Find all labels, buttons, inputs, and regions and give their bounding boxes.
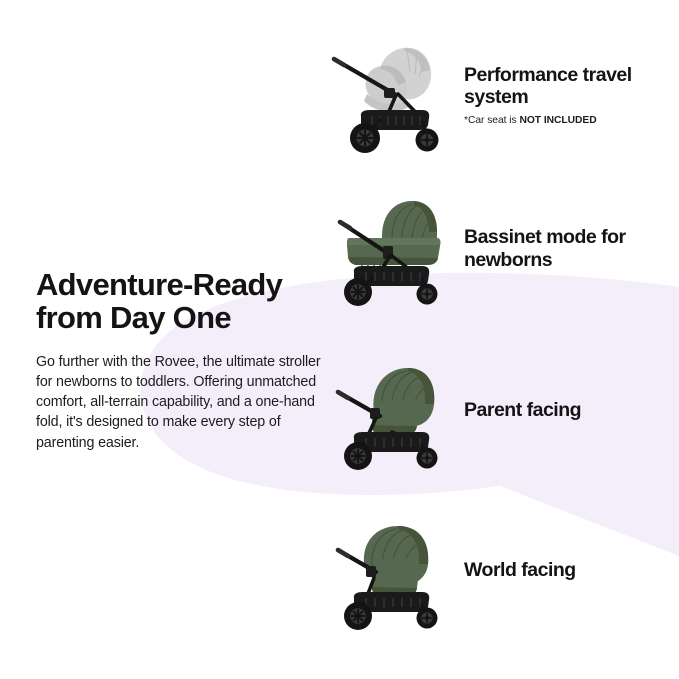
feature-row-performance-travel-system: Performance travel system *Car seat is N… bbox=[318, 28, 679, 159]
feature-text-bassinet-mode: Bassinet mode for newborns bbox=[464, 226, 679, 270]
page-title: Adventure-Ready from Day One bbox=[36, 268, 326, 335]
infographic-canvas: Adventure-Ready from Day One Go further … bbox=[0, 0, 679, 679]
feature-title: Parent facing bbox=[464, 399, 581, 421]
feature-title: Performance travel system bbox=[464, 64, 679, 108]
hero-copy-block: Adventure-Ready from Day One Go further … bbox=[36, 268, 326, 453]
feature-text-parent-facing: Parent facing bbox=[464, 399, 581, 421]
feature-text-world-facing: World facing bbox=[464, 559, 576, 581]
stroller-with-car-seat-illustration bbox=[318, 28, 444, 159]
stroller-bassinet-illustration bbox=[330, 186, 446, 311]
feature-title: World facing bbox=[464, 559, 576, 581]
disclaimer-prefix: *Car seat is bbox=[464, 115, 519, 126]
feature-row-parent-facing: Parent facing bbox=[330, 346, 581, 475]
feature-row-world-facing: World facing bbox=[330, 506, 576, 635]
feature-title: Bassinet mode for newborns bbox=[464, 226, 679, 270]
stroller-world-facing-illustration bbox=[330, 506, 446, 635]
stroller-parent-facing-illustration bbox=[330, 346, 446, 475]
feature-row-bassinet-mode: Bassinet mode for newborns bbox=[330, 186, 679, 311]
disclaimer-emphasis: NOT INCLUDED bbox=[519, 115, 596, 126]
body-paragraph: Go further with the Rovee, the ultimate … bbox=[36, 352, 326, 453]
feature-disclaimer: *Car seat is NOT INCLUDED bbox=[464, 114, 679, 127]
feature-text-performance-travel-system: Performance travel system *Car seat is N… bbox=[464, 64, 679, 127]
